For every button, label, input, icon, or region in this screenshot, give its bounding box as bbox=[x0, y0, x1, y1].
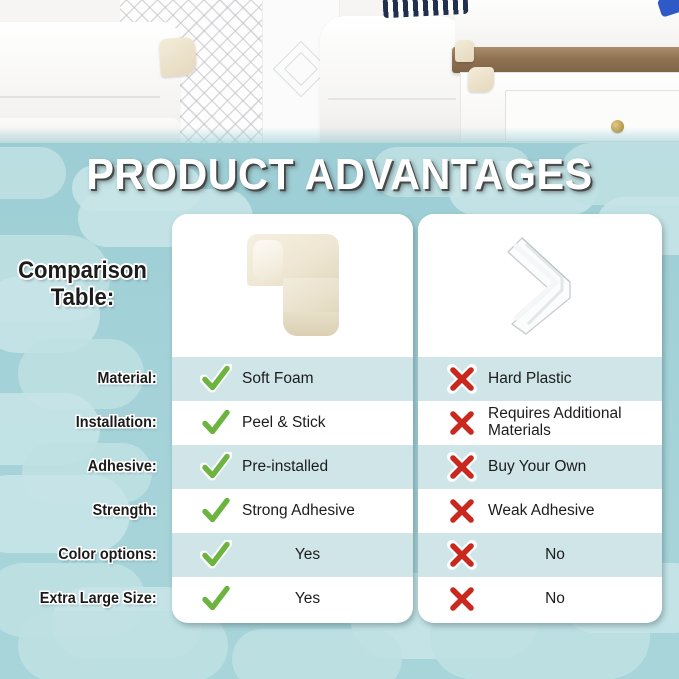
check-icon bbox=[200, 408, 232, 438]
theirs-rows: Hard Plastic Requires Additional Materia… bbox=[418, 357, 662, 621]
comparison-table-heading: Comparison Table: bbox=[7, 258, 159, 312]
row-label-strength: Strength: bbox=[12, 489, 166, 533]
table-row: Buy Your Own bbox=[418, 445, 662, 489]
lifestyle-photo bbox=[0, 0, 679, 143]
table-row: Yes bbox=[172, 533, 413, 577]
page-title: PRODUCT ADVANTAGES bbox=[20, 150, 658, 200]
check-icon bbox=[200, 584, 232, 614]
table-row: Peel & Stick bbox=[172, 401, 413, 445]
beige-foam-corner-guard-icon bbox=[247, 234, 339, 338]
product-image-foam-guard bbox=[172, 214, 413, 357]
check-icon bbox=[200, 540, 232, 570]
check-icon bbox=[200, 364, 232, 394]
row-label-installation: Installation: bbox=[12, 401, 166, 445]
table-row: Yes bbox=[172, 577, 413, 621]
cross-icon bbox=[446, 364, 478, 394]
product-card-theirs: Hard Plastic Requires Additional Materia… bbox=[418, 214, 662, 623]
clear-plastic-corner-guard-icon bbox=[492, 232, 588, 340]
table-row: No bbox=[418, 533, 662, 577]
cell-value: Hard Plastic bbox=[488, 371, 572, 388]
cell-value: No bbox=[488, 547, 662, 564]
row-label-color-options: Color options: bbox=[12, 533, 166, 577]
cross-icon bbox=[446, 584, 478, 614]
check-icon bbox=[200, 452, 232, 482]
table-row: Hard Plastic bbox=[418, 357, 662, 401]
table-row: Weak Adhesive bbox=[418, 489, 662, 533]
table-row: Requires Additional Materials bbox=[418, 401, 662, 445]
product-advantages-infographic: PRODUCT ADVANTAGES Comparison Table: Mat… bbox=[0, 0, 679, 679]
installed-corner-guard-1 bbox=[159, 37, 198, 77]
row-label-material: Material: bbox=[12, 357, 166, 401]
comparison-heading-line2: Table: bbox=[7, 285, 159, 312]
installed-corner-guard-2 bbox=[455, 40, 474, 62]
comparison-heading-line1: Comparison bbox=[7, 258, 159, 285]
table-row: Strong Adhesive bbox=[172, 489, 413, 533]
cell-value: Yes bbox=[242, 591, 413, 608]
cross-icon bbox=[446, 408, 478, 438]
cell-value: Strong Adhesive bbox=[242, 503, 355, 520]
product-card-ours: Soft Foam Peel & Stick bbox=[172, 214, 413, 623]
cell-value: Soft Foam bbox=[242, 371, 314, 388]
check-icon bbox=[200, 496, 232, 526]
cell-value: No bbox=[488, 591, 662, 608]
product-image-clear-guard bbox=[418, 214, 662, 357]
cell-value: Yes bbox=[242, 547, 413, 564]
cloud-shape bbox=[232, 629, 402, 679]
cross-icon bbox=[446, 496, 478, 526]
cell-value: Weak Adhesive bbox=[488, 503, 595, 520]
row-label-adhesive: Adhesive: bbox=[12, 445, 166, 489]
photo-bottom-fade bbox=[0, 127, 679, 143]
installed-corner-guard-3 bbox=[468, 67, 494, 92]
cell-value: Requires Additional Materials bbox=[488, 406, 662, 439]
cell-value: Buy Your Own bbox=[488, 459, 586, 476]
cross-icon bbox=[446, 540, 478, 570]
table-row: Pre-installed bbox=[172, 445, 413, 489]
cell-value: Peel & Stick bbox=[242, 415, 326, 432]
row-label-extra-large-size: Extra Large Size: bbox=[12, 577, 166, 621]
ours-rows: Soft Foam Peel & Stick bbox=[172, 357, 413, 621]
table-row: Soft Foam bbox=[172, 357, 413, 401]
cross-icon bbox=[446, 452, 478, 482]
table-row: No bbox=[418, 577, 662, 621]
chair-middle bbox=[320, 16, 465, 143]
row-label-column: Material: Installation: Adhesive: Streng… bbox=[0, 357, 166, 621]
cell-value: Pre-installed bbox=[242, 459, 328, 476]
